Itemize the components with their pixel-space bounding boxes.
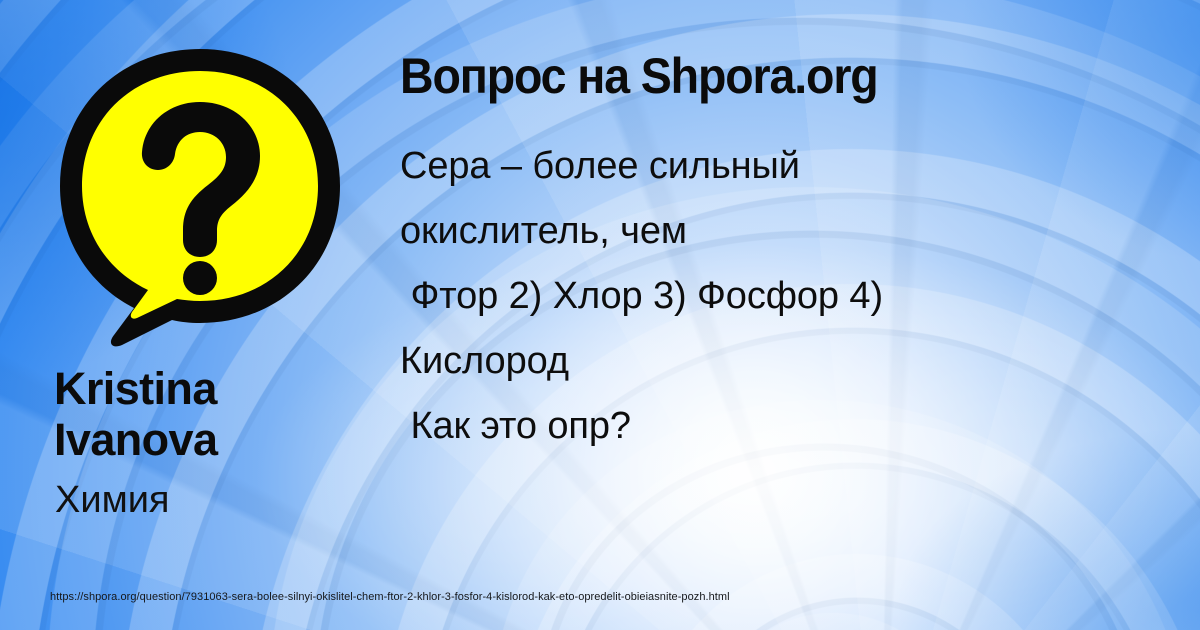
question-column: Вопрос на Shpora.org Сера – более сильны… <box>400 48 1180 459</box>
question-text: Сера – более сильный окислитель, чем Фто… <box>400 134 1180 459</box>
source-url[interactable]: https://shpora.org/question/7931063-sera… <box>50 590 730 604</box>
question-speech-bubble-icon <box>50 44 350 349</box>
question-line: Фтор 2) Хлор 3) Фосфор 4) <box>400 264 1180 329</box>
question-line: окислитель, чем <box>400 199 1180 264</box>
subject-label: Химия <box>55 479 370 521</box>
question-line: Кислород <box>400 329 1180 394</box>
question-line: Как это опр? <box>400 394 1180 459</box>
page-title: Вопрос на Shpora.org <box>400 48 1125 104</box>
author-column: Kristina Ivanova Химия <box>50 44 370 521</box>
card-content: Kristina Ivanova Химия Вопрос на Shpora.… <box>0 0 1200 630</box>
question-share-card: Kristina Ivanova Химия Вопрос на Shpora.… <box>0 0 1200 630</box>
question-mark-dot <box>183 261 217 295</box>
question-line: Сера – более сильный <box>400 134 1180 199</box>
author-name: Kristina Ivanova <box>54 363 354 465</box>
